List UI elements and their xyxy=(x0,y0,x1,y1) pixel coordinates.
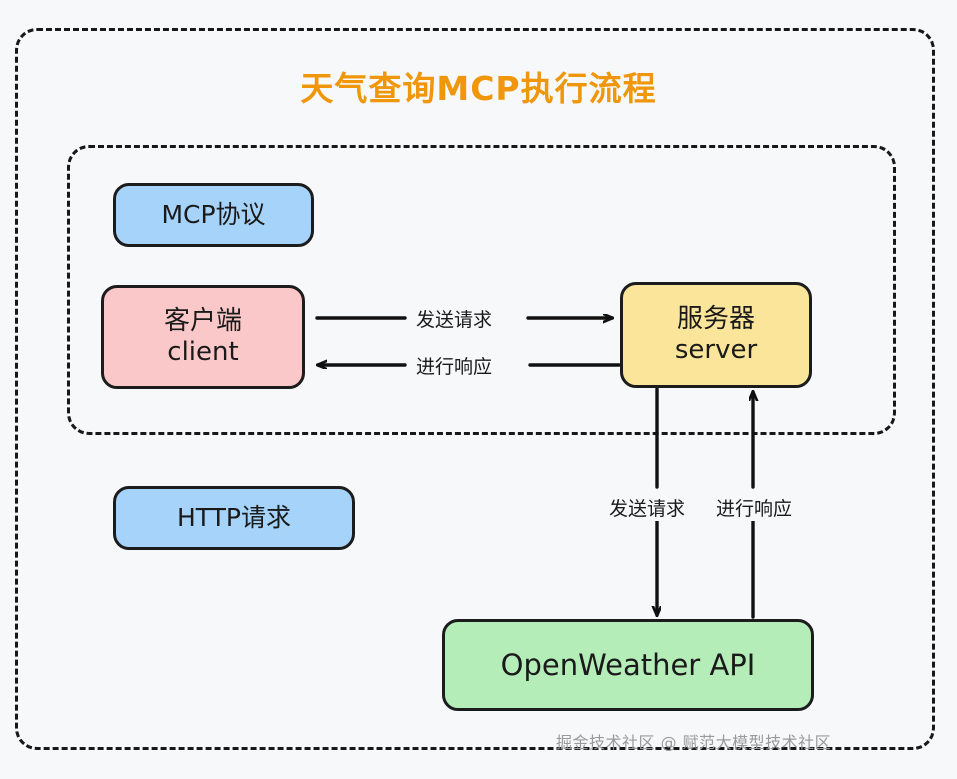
node-client[interactable]: 客户端 client xyxy=(101,285,305,389)
node-client-label-cn: 客户端 xyxy=(164,306,242,337)
edge-label-openweather-to-server: 进行响应 xyxy=(711,494,797,521)
node-server[interactable]: 服务器 server xyxy=(620,282,812,388)
node-client-label-en: client xyxy=(167,337,238,368)
node-http-request[interactable]: HTTP请求 xyxy=(113,486,355,550)
diagram-canvas: 天气查询MCP执行流程 xyxy=(0,0,957,779)
node-server-label-en: server xyxy=(675,335,757,366)
node-openweather-api-label: OpenWeather API xyxy=(501,648,756,682)
edge-label-client-to-server: 发送请求 xyxy=(411,305,497,332)
watermark: 掘金技术社区 @ 赋范大模型技术社区 xyxy=(556,729,831,753)
diagram-title: 天气查询MCP执行流程 xyxy=(0,62,957,110)
node-openweather-api[interactable]: OpenWeather API xyxy=(442,619,814,711)
edge-label-server-to-openweather: 发送请求 xyxy=(604,494,690,521)
node-mcp-protocol-label: MCP协议 xyxy=(161,200,265,230)
node-http-request-label: HTTP请求 xyxy=(177,503,291,533)
node-mcp-protocol[interactable]: MCP协议 xyxy=(113,183,314,247)
node-server-label-cn: 服务器 xyxy=(677,304,755,335)
edge-label-server-to-client: 进行响应 xyxy=(411,352,497,379)
